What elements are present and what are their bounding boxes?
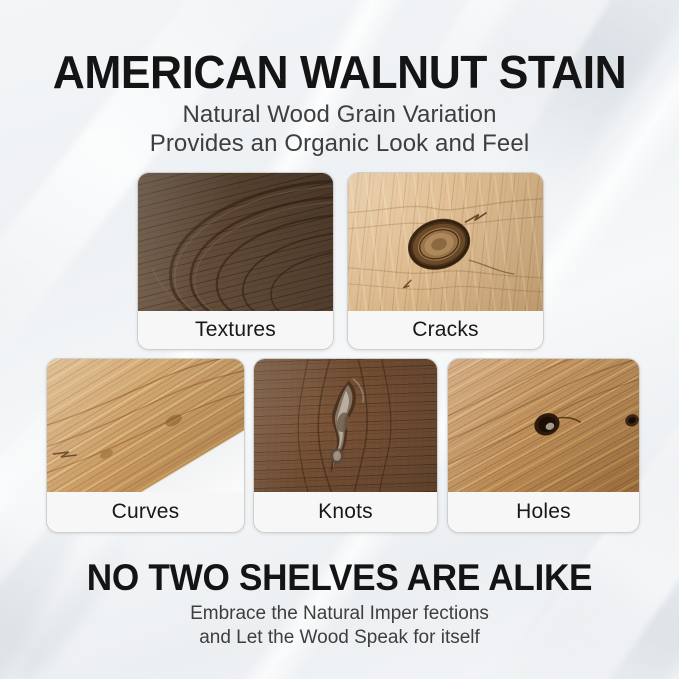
- wood-texture: [47, 359, 244, 494]
- promo-graphic: AMERICAN WALNUT STAIN Natural Wood Grain…: [0, 0, 679, 679]
- feature-card-textures[interactable]: Textures: [137, 172, 334, 350]
- feature-card-knots[interactable]: Knots: [253, 358, 438, 533]
- main-subtitle-line-1: Natural Wood Grain Variation: [0, 100, 679, 129]
- feature-card-curves[interactable]: Curves: [46, 358, 245, 533]
- white-backdrop-wedge: [47, 359, 244, 494]
- card-label-holes: Holes: [448, 492, 639, 532]
- card-photo-textures: [138, 173, 333, 313]
- wood-texture: [138, 173, 333, 313]
- card-label-curves: Curves: [47, 492, 244, 532]
- footer-subtitle-line-2: and Let the Wood Speak for itself: [0, 626, 679, 650]
- main-title: AMERICAN WALNUT STAIN: [12, 47, 667, 97]
- footer-subtitle: Embrace the Natural Imper fections and L…: [0, 602, 679, 650]
- wood-texture: [254, 359, 437, 494]
- footer-subtitle-line-1: Embrace the Natural Imper fections: [0, 602, 679, 626]
- card-photo-holes: [448, 359, 639, 494]
- card-photo-cracks: [348, 173, 543, 313]
- wood-texture: [448, 359, 639, 494]
- card-label-knots: Knots: [254, 492, 437, 532]
- card-photo-curves: [47, 359, 244, 494]
- feature-card-holes[interactable]: Holes: [447, 358, 640, 533]
- card-label-cracks: Cracks: [348, 311, 543, 349]
- footer-title: NO TWO SHELVES ARE ALIKE: [17, 557, 662, 599]
- feature-card-cracks[interactable]: Cracks: [347, 172, 544, 350]
- card-photo-knots: [254, 359, 437, 494]
- wood-texture: [348, 173, 543, 313]
- main-subtitle: Natural Wood Grain Variation Provides an…: [0, 100, 679, 158]
- main-subtitle-line-2: Provides an Organic Look and Feel: [0, 129, 679, 158]
- card-label-textures: Textures: [138, 311, 333, 349]
